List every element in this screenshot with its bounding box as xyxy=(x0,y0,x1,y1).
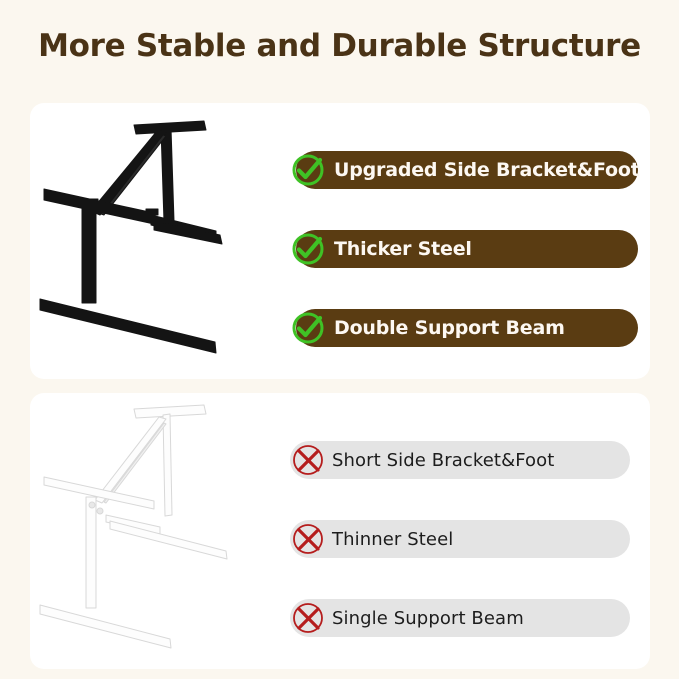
check-circle-icon xyxy=(290,152,326,188)
pro-comparison-card: Upgraded Side Bracket&Foot Thicker Steel xyxy=(30,103,650,379)
feature-row-short-side-bracket[interactable]: Short Side Bracket&Foot xyxy=(278,441,554,479)
feature-label: Upgraded Side Bracket&Foot xyxy=(334,159,640,181)
feature-row-double-support-beam[interactable]: Double Support Beam xyxy=(278,309,565,347)
feature-row-thicker-steel[interactable]: Thicker Steel xyxy=(278,230,472,268)
con-comparison-card: Short Side Bracket&Foot Thinner Steel xyxy=(30,393,650,669)
feature-label: Double Support Beam xyxy=(334,317,565,339)
black-desk-frame-image xyxy=(30,103,280,379)
check-circle-icon xyxy=(290,310,326,346)
pro-feature-list: Upgraded Side Bracket&Foot Thicker Steel xyxy=(278,103,650,379)
check-circle-icon xyxy=(290,231,326,267)
page-title: More Stable and Durable Structure xyxy=(0,28,679,64)
feature-label: Short Side Bracket&Foot xyxy=(332,450,554,471)
feature-row-single-support-beam[interactable]: Single Support Beam xyxy=(278,599,524,637)
x-circle-icon xyxy=(290,442,326,478)
feature-label: Thinner Steel xyxy=(332,529,453,550)
con-feature-list: Short Side Bracket&Foot Thinner Steel xyxy=(278,393,650,669)
feature-label: Thicker Steel xyxy=(334,238,472,260)
feature-label: Single Support Beam xyxy=(332,608,524,629)
x-circle-icon xyxy=(290,600,326,636)
feature-row-upgraded-side-bracket[interactable]: Upgraded Side Bracket&Foot xyxy=(278,151,640,189)
feature-row-thinner-steel[interactable]: Thinner Steel xyxy=(278,520,453,558)
x-circle-icon xyxy=(290,521,326,557)
white-desk-frame-image xyxy=(30,393,280,669)
